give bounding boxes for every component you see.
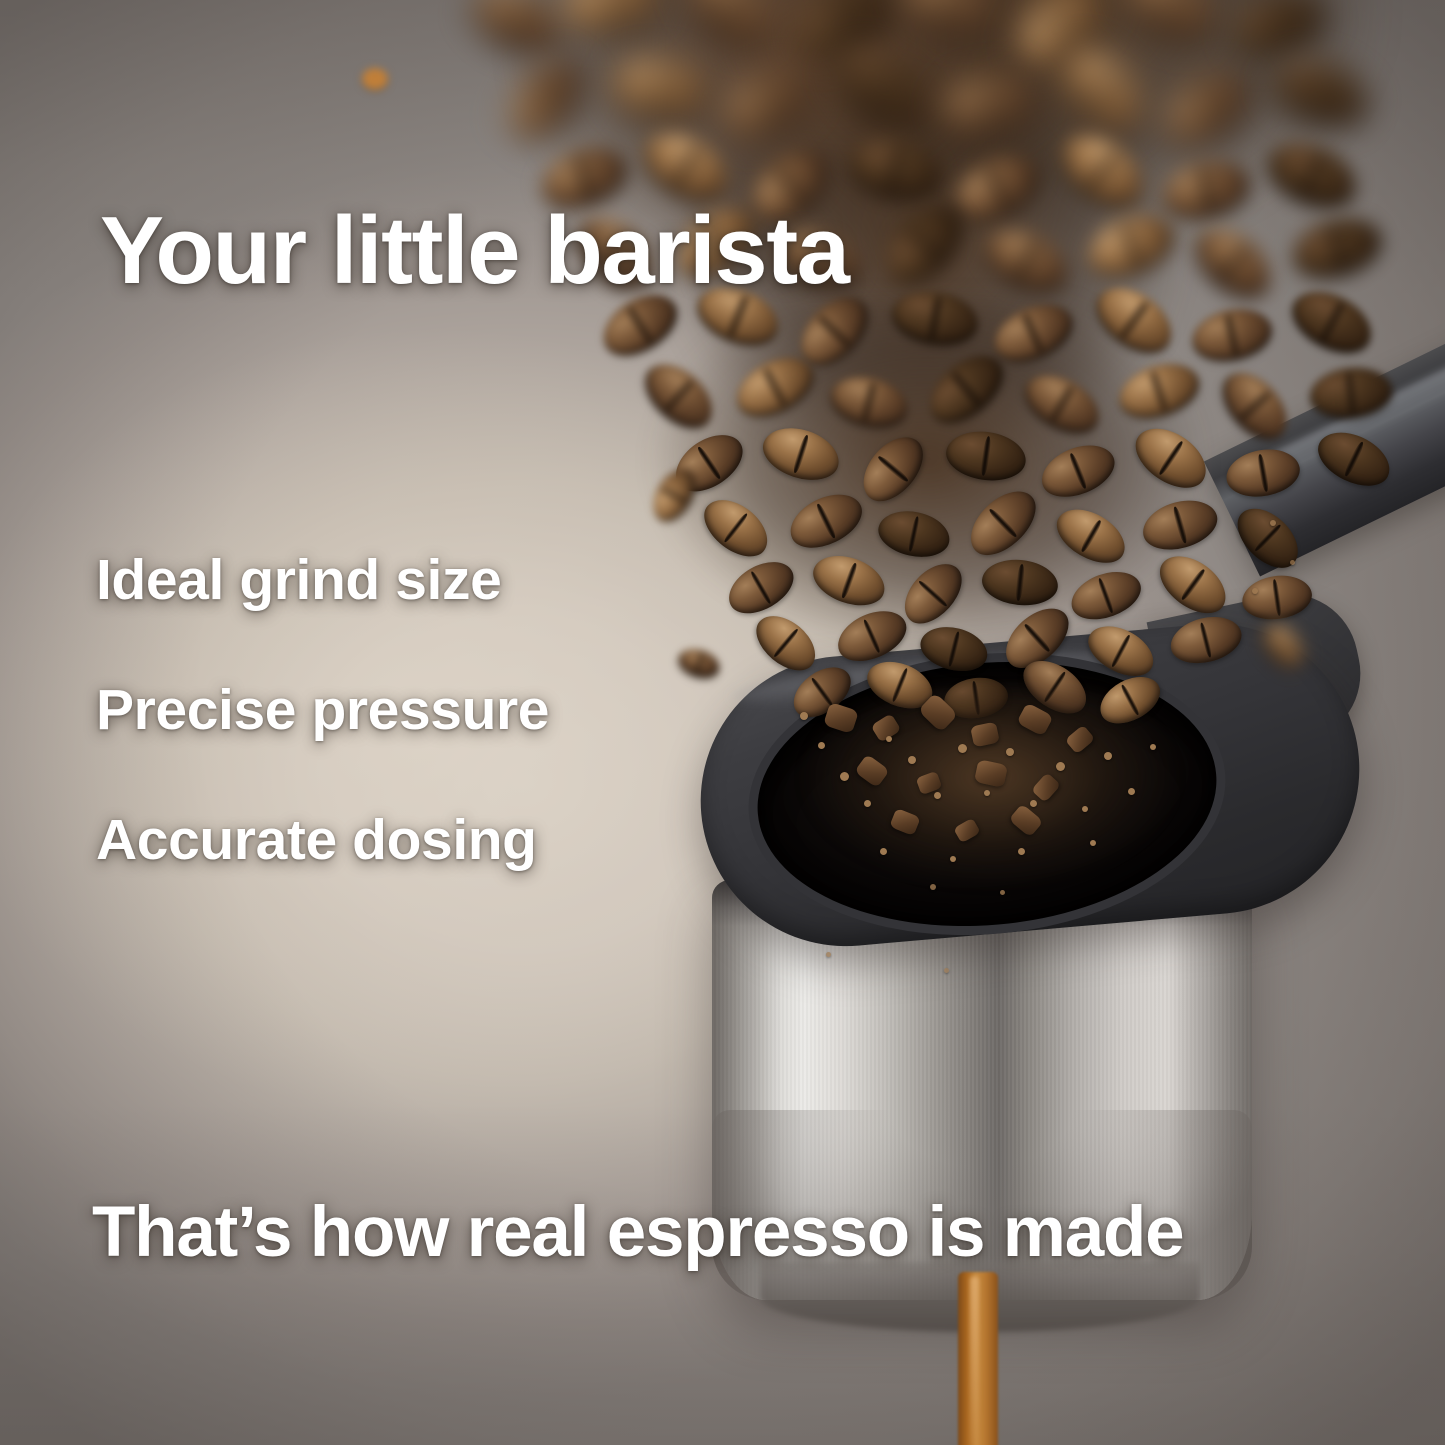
feature-item-ideal-grind-size: Ideal grind size bbox=[96, 547, 501, 613]
portafilter-handle-icon bbox=[1204, 277, 1445, 576]
handle-gloss bbox=[1250, 306, 1445, 487]
product-banner: Your little barista Ideal grind size Pre… bbox=[0, 0, 1445, 1445]
feature-item-precise-pressure: Precise pressure bbox=[96, 677, 549, 743]
tagline: That’s how real espresso is made bbox=[92, 1192, 1183, 1273]
page-title: Your little barista bbox=[100, 196, 849, 306]
espresso-stream-sheen bbox=[970, 1276, 979, 1445]
feature-item-accurate-dosing: Accurate dosing bbox=[96, 807, 537, 873]
